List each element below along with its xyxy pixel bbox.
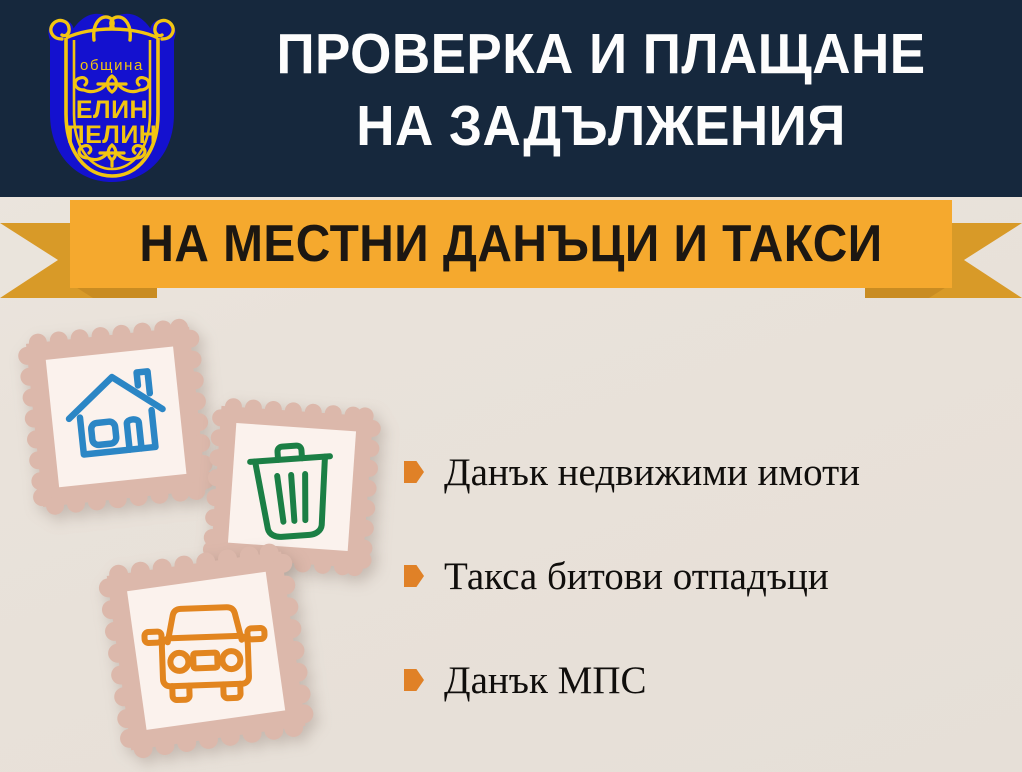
stamp-card-group xyxy=(0,295,420,772)
stamp-card-house xyxy=(8,309,223,524)
car-stamp-svg xyxy=(88,533,323,768)
crest-name-line1: ЕЛИН xyxy=(76,96,148,124)
page-title-line-2: НА ЗАДЪЛЖЕНИЯ xyxy=(224,90,977,162)
arrow-bullet-icon xyxy=(404,565,424,587)
crest-svg: община ЕЛИН ПЕЛИН xyxy=(22,6,194,191)
municipality-crest: община ЕЛИН ПЕЛИН xyxy=(22,6,194,191)
ribbon-panel: НА МЕСТНИ ДАНЪЦИ И ТАКСИ xyxy=(70,200,952,288)
poster-canvas: община ЕЛИН ПЕЛИН xyxy=(0,0,1022,772)
arrow-bullet-icon xyxy=(404,461,424,483)
list-item-label: Такса битови отпадъци xyxy=(444,557,829,596)
list-item[interactable]: Данък МПС xyxy=(404,628,1014,732)
arrow-bullet-icon xyxy=(404,669,424,691)
list-item-label: Данък недвижими имоти xyxy=(444,453,860,492)
tax-type-list: Данък недвижими имоти Такса битови отпад… xyxy=(404,420,1014,732)
list-item[interactable]: Данък недвижими имоти xyxy=(404,420,1014,524)
ribbon-label: НА МЕСТНИ ДАНЪЦИ И ТАКСИ xyxy=(139,218,882,270)
house-stamp-svg xyxy=(8,309,223,524)
stamp-card-car xyxy=(88,533,323,768)
header-title-block: ПРОВЕРКА И ПЛАЩАНЕ НА ЗАДЪЛЖЕНИЯ xyxy=(196,18,1006,162)
list-item[interactable]: Такса битови отпадъци xyxy=(404,524,1014,628)
page-title-line-1: ПРОВЕРКА И ПЛАЩАНЕ xyxy=(224,18,977,90)
stamp-scallop-border xyxy=(16,317,216,517)
list-item-label: Данък МПС xyxy=(444,661,647,700)
subtitle-ribbon: НА МЕСТНИ ДАНЪЦИ И ТАКСИ xyxy=(0,196,1022,304)
crest-municipality-label: община xyxy=(80,57,144,74)
header-bar: община ЕЛИН ПЕЛИН xyxy=(0,0,1022,197)
